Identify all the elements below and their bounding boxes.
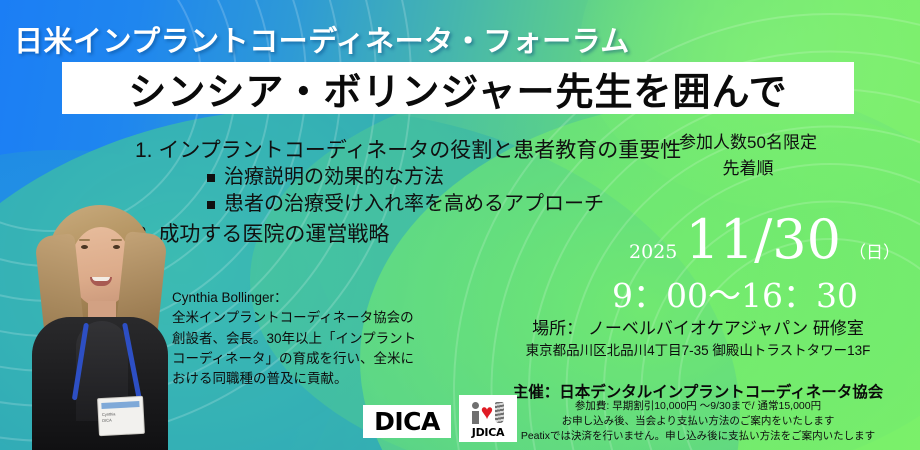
jdica-logo-text: JDICA	[472, 426, 504, 439]
venue-address: 東京都品川区北品川4丁目7-35 御殿山トラストタワー13F	[488, 341, 908, 361]
badge-header-bar	[101, 401, 139, 409]
heart-icon: ♥	[481, 402, 493, 423]
poster-kicker: 日米インプラントコーディネータ・フォーラム	[14, 18, 630, 60]
fee-note: 参加費: 早期割引10,000円 〜9/30まで/ 通常15,000円	[488, 399, 908, 414]
portrait-eyebrow-right	[111, 239, 122, 241]
event-poster: 日米インプラントコーディネータ・フォーラム シンシア・ボリンジャー先生を囲んで …	[0, 0, 920, 450]
event-time: 9：00〜16：30	[570, 269, 900, 317]
speaker-name: Cynthia Bollinger：	[172, 288, 437, 308]
speaker-bio-line-1: 全米インプラントコーディネータ協会の	[172, 308, 437, 328]
payment-note-1: お申し込み後、当会より支払い方法のご案内をいたします	[488, 414, 908, 429]
poster-title-band: シンシア・ボリンジャー先生を囲んで	[62, 62, 854, 114]
i-dot	[472, 402, 479, 409]
event-day-of-week: （日）	[849, 238, 900, 263]
fineprint-block: 参加費: 早期割引10,000円 〜9/30まで/ 通常15,000円 お申し込…	[488, 399, 908, 445]
venue-name: 場所： ノーベルバイオケアジャパン 研修室	[488, 318, 908, 341]
speaker-bio: Cynthia Bollinger： 全米インプラントコーディネータ協会の 創設…	[172, 288, 437, 389]
portrait-eye-right	[113, 245, 120, 249]
dica-logo: DICA	[363, 405, 451, 438]
event-date-block: 2025 11/30 （日） 9：00〜16：30	[570, 214, 900, 317]
agenda-subitem-1-label: 治療説明の効果的な方法	[224, 164, 444, 191]
venue-block: 場所： ノーベルバイオケアジャパン 研修室 東京都品川区北品川4丁目7-35 御…	[488, 318, 908, 361]
speaker-bio-line-2: 創設者、会長。30年以上「インプラント	[172, 329, 437, 349]
speaker-portrait: Cynthia DICA	[18, 205, 178, 450]
agenda-subitem-2-label: 患者の治療受け入れ率を高めるアプローチ	[224, 191, 604, 218]
jdica-logo-mark: ♥	[472, 401, 504, 425]
event-year: 2025	[629, 241, 677, 263]
dica-logo-text: DICA	[374, 407, 440, 436]
capacity-line-2: 先着順	[598, 156, 898, 182]
capacity-line-1: 参加人数50名限定	[598, 130, 898, 156]
event-date-line: 2025 11/30 （日）	[570, 214, 900, 265]
letter-i-icon	[472, 402, 479, 424]
i-stem	[472, 411, 479, 424]
implant-screw-icon	[495, 402, 504, 423]
bullet-square-icon	[207, 174, 215, 182]
payment-note-2: Peatixでは決済を行いません。申し込み後に支払い方法をご案内いたします	[488, 429, 908, 444]
page-title: シンシア・ボリンジャー先生を囲んで	[128, 61, 787, 116]
speaker-bio-line-4: おける同職種の普及に貢献。	[172, 369, 437, 389]
jdica-logo: ♥ JDICA	[459, 395, 517, 442]
badge-org: DICA	[102, 416, 140, 424]
capacity-note: 参加人数50名限定 先着順	[598, 130, 898, 181]
event-date: 11/30	[685, 214, 841, 265]
portrait-teeth	[92, 277, 110, 281]
portrait-eye-left	[81, 245, 88, 249]
speaker-bio-line-3: コーディネータ」の育成を行い、全米に	[172, 349, 437, 369]
portrait-name-badge: Cynthia DICA	[97, 396, 145, 436]
portrait-eyebrow-left	[79, 239, 90, 241]
bullet-square-icon	[207, 201, 215, 209]
